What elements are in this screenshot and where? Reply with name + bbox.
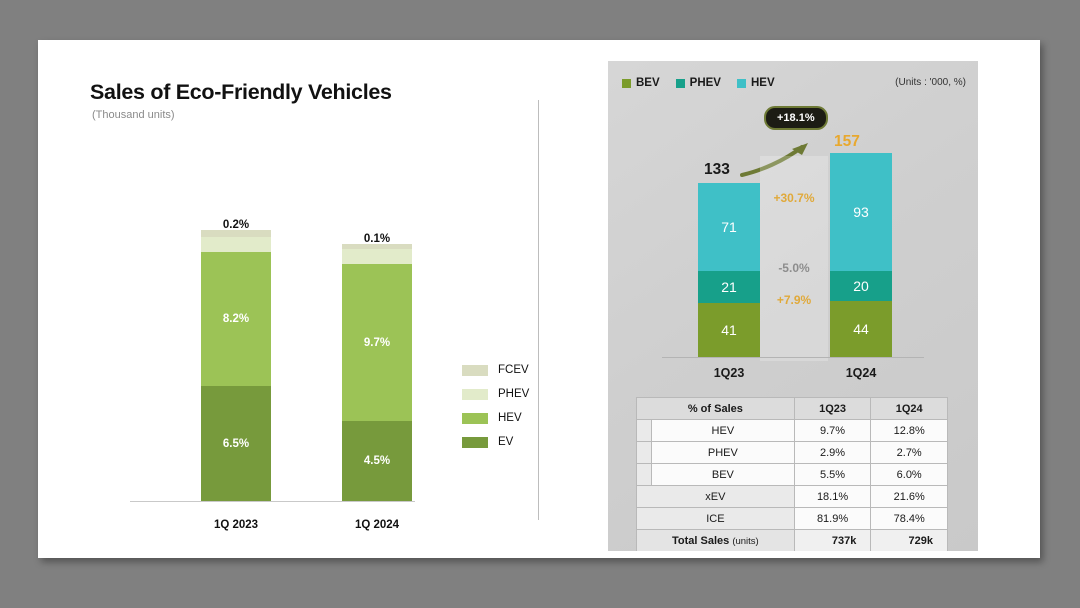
- right-bar-2024[interactable]: 93 20 44: [830, 153, 892, 357]
- table-header-1q24: 1Q24: [871, 398, 948, 420]
- bar-2023-hev-value: 8.2%: [223, 313, 249, 325]
- legend-label-hev: HEV: [498, 412, 522, 424]
- left-chart-panel: Sales of Eco-Friendly Vehicles (Thousand…: [38, 40, 538, 558]
- legend-item-bev[interactable]: BEV: [622, 77, 660, 89]
- right-bar-2024-hev-value: 93: [853, 204, 869, 220]
- delta-hev: +30.7%: [760, 191, 828, 205]
- panel-divider: [538, 100, 539, 520]
- slide-canvas: Sales of Eco-Friendly Vehicles (Thousand…: [38, 40, 1040, 558]
- legend-item-hev[interactable]: HEV: [462, 406, 529, 430]
- x-axis-line: [130, 501, 415, 502]
- legend-swatch-hev-right: [737, 79, 746, 88]
- right-bar-2024-bev-value: 44: [853, 321, 869, 337]
- right-bar-2024-phev-value: 20: [853, 278, 869, 294]
- delta-phev: -5.0%: [760, 261, 828, 275]
- growth-badge: +18.1%: [764, 106, 828, 130]
- bar-2024-hev-value: 9.7%: [364, 337, 390, 349]
- delta-backdrop: [760, 156, 828, 361]
- legend-label-phev: PHEV: [498, 388, 529, 400]
- table-cell-bev-1q23: 5.5%: [794, 464, 871, 486]
- delta-bev: +7.9%: [760, 293, 828, 307]
- x-label-1q-2024: 1Q 2024: [317, 519, 437, 531]
- bar-2024[interactable]: 9.7% 4.5%: [342, 244, 412, 501]
- bar-2023-ev-value: 6.5%: [223, 438, 249, 450]
- legend-label-phev-right: PHEV: [690, 77, 721, 89]
- right-bar-2023-phev-value: 21: [721, 279, 737, 295]
- right-chart-legend: BEV PHEV HEV: [622, 77, 791, 89]
- bar-2023-segment-ev: 6.5%: [201, 386, 271, 501]
- bar-2024-ev-value: 4.5%: [364, 455, 390, 467]
- table-row-label-xev: xEV: [637, 486, 795, 508]
- legend-swatch-phev-right: [676, 79, 685, 88]
- legend-label-ev: EV: [498, 436, 513, 448]
- table-cell-hev-1q24: 12.8%: [871, 420, 948, 442]
- table-cell-ice-1q24: 78.4%: [871, 508, 948, 530]
- total-label-unit: (units): [732, 536, 758, 547]
- right-bar-2024-segment-hev: 93: [830, 153, 892, 271]
- right-x-label-1q23: 1Q23: [684, 366, 774, 380]
- legend-label-bev: BEV: [636, 77, 660, 89]
- legend-label-hev-right: HEV: [751, 77, 775, 89]
- bar-2024-segment-hev: 9.7%: [342, 264, 412, 421]
- total-2023: 133: [704, 161, 730, 179]
- table-cell-total-1q24: 729k: [871, 530, 948, 552]
- table-row: PHEV 2.9% 2.7%: [637, 442, 948, 464]
- table-cell-total-1q23: 737k: [794, 530, 871, 552]
- table-row-label-bev: BEV: [652, 464, 795, 486]
- legend-swatch-phev: [462, 389, 488, 400]
- bar-2023-segment-phev: [201, 237, 271, 252]
- table-row-label-ice: ICE: [637, 508, 795, 530]
- sales-share-table: % of Sales 1Q23 1Q24 HEV 9.7% 12.8% PHEV…: [636, 397, 948, 551]
- table-cell-xev-1q23: 18.1%: [794, 486, 871, 508]
- bar-2024-segment-phev: [342, 249, 412, 264]
- right-bar-2023[interactable]: 71 21 41: [698, 183, 760, 357]
- right-baseline: [662, 357, 924, 358]
- table-total-row: Total Sales (units) 737k 729k: [637, 530, 948, 552]
- legend-swatch-ev: [462, 437, 488, 448]
- table-cell-phev-1q23: 2.9%: [794, 442, 871, 464]
- table-indent-cell: [637, 442, 652, 464]
- legend-swatch-bev: [622, 79, 631, 88]
- legend-label-fcev: FCEV: [498, 364, 529, 376]
- table-row: HEV 9.7% 12.8%: [637, 420, 948, 442]
- total-label-text: Total Sales: [672, 535, 729, 547]
- table-row-label-total: Total Sales (units): [637, 530, 795, 552]
- x-label-1q-2023: 1Q 2023: [176, 519, 296, 531]
- table-row: xEV 18.1% 21.6%: [637, 486, 948, 508]
- table-row: ICE 81.9% 78.4%: [637, 508, 948, 530]
- table-cell-bev-1q24: 6.0%: [871, 464, 948, 486]
- bar-2023-segment-fcev: [201, 230, 271, 237]
- bar-2023-segment-hev: 8.2%: [201, 252, 271, 386]
- right-chart-image-panel: BEV PHEV HEV (Units : '000, %) +18.1% 13…: [608, 61, 978, 551]
- table-row-label-phev: PHEV: [652, 442, 795, 464]
- table-indent-cell: [637, 464, 652, 486]
- right-bar-2023-segment-bev: 41: [698, 303, 760, 357]
- table-cell-ice-1q23: 81.9%: [794, 508, 871, 530]
- legend-item-phev[interactable]: PHEV: [462, 382, 529, 406]
- units-note: (Units : '000, %): [895, 77, 966, 88]
- table-row-label-hev: HEV: [652, 420, 795, 442]
- table-header-metric: % of Sales: [637, 398, 795, 420]
- table-cell-phev-1q24: 2.7%: [871, 442, 948, 464]
- right-bar-2023-bev-value: 41: [721, 322, 737, 338]
- table-cell-hev-1q23: 9.7%: [794, 420, 871, 442]
- bar-2023[interactable]: 8.2% 6.5%: [201, 230, 271, 501]
- legend-swatch-hev: [462, 413, 488, 424]
- table-header-row: % of Sales 1Q23 1Q24: [637, 398, 948, 420]
- table-header-1q23: 1Q23: [794, 398, 871, 420]
- right-bar-2024-segment-bev: 44: [830, 301, 892, 357]
- right-bar-2023-segment-phev: 21: [698, 271, 760, 303]
- left-chart-legend: FCEV PHEV HEV EV: [462, 358, 529, 454]
- legend-item-phev-right[interactable]: PHEV: [676, 77, 721, 89]
- legend-item-fcev[interactable]: FCEV: [462, 358, 529, 382]
- right-bar-2024-segment-phev: 20: [830, 271, 892, 301]
- right-x-label-1q24: 1Q24: [816, 366, 906, 380]
- legend-item-hev-right[interactable]: HEV: [737, 77, 775, 89]
- table-cell-xev-1q24: 21.6%: [871, 486, 948, 508]
- total-2024: 157: [834, 133, 860, 151]
- table-indent-cell: [637, 420, 652, 442]
- right-bar-2023-hev-value: 71: [721, 219, 737, 235]
- page-title: Sales of Eco-Friendly Vehicles: [90, 80, 392, 105]
- page-subtitle: (Thousand units): [92, 109, 175, 121]
- bar-2024-segment-ev: 4.5%: [342, 421, 412, 501]
- right-bar-2023-segment-hev: 71: [698, 183, 760, 271]
- legend-swatch-fcev: [462, 365, 488, 376]
- table-row: BEV 5.5% 6.0%: [637, 464, 948, 486]
- legend-item-ev[interactable]: EV: [462, 430, 529, 454]
